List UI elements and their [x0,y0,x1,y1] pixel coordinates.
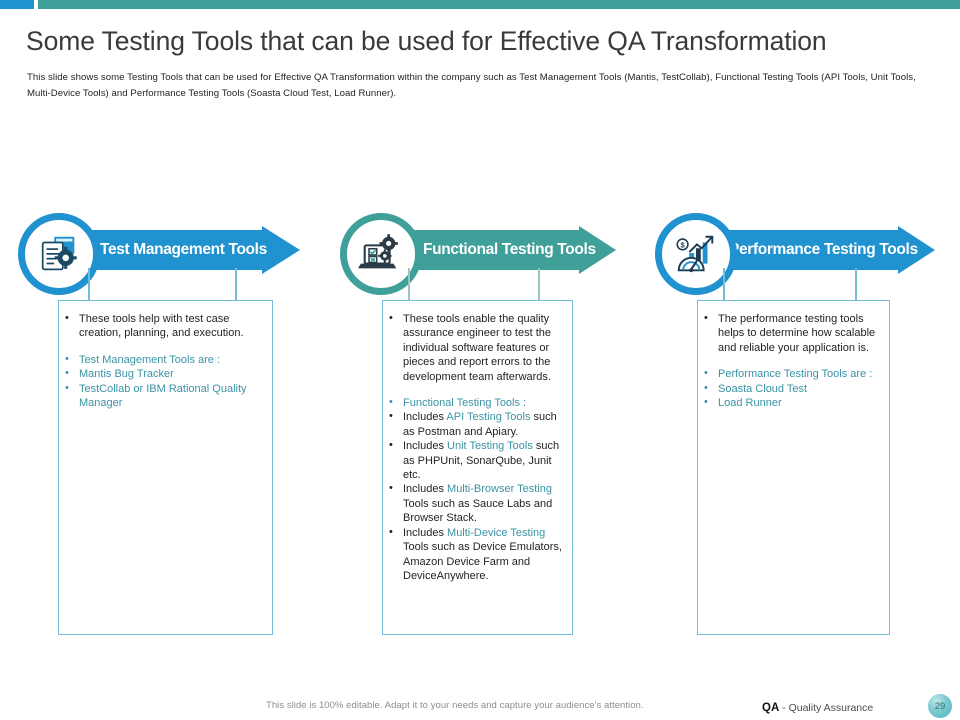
footer-legend-rest: - Quality Assurance [782,702,873,714]
document-gear-icon [36,231,82,277]
bullet-list-3: The performance testing tools helps to d… [700,312,881,410]
bullet-list-1: These tools help with test case creation… [61,312,262,410]
banner-label: Functional Testing Tools [423,226,596,274]
footer-legend: QA - Quality Assurance [762,702,873,714]
list-item: Mantis Bug Tracker [61,367,262,381]
list-item: The performance testing tools helps to d… [700,312,881,355]
slide-canvas: Some Testing Tools that can be used for … [0,0,960,720]
list-item: Load Runner [700,396,881,410]
list-item: Soasta Cloud Test [700,382,881,396]
list-item: Functional Testing Tools : [385,396,566,410]
speedometer-growth-chart-icon: $ [673,231,719,277]
banner-label: Test Management Tools [100,226,267,274]
bullet-list-2: These tools enable the quality assurance… [385,312,566,583]
list-item: Includes API Testing Tools such as Postm… [385,410,566,439]
laptop-gears-icon [358,231,404,277]
connector-stem-left-1 [88,268,90,302]
top-accent-bar-teal [38,0,960,9]
connector-stem-right-3 [855,268,857,302]
content-box-performance-testing-tools: The performance testing tools helps to d… [697,300,890,635]
list-item: These tools help with test case creation… [61,312,262,341]
connector-stem-left-2 [408,268,410,302]
list-item: Performance Testing Tools are : [700,367,881,381]
svg-text:$: $ [680,241,685,250]
banner-label: Performance Testing Tools [729,226,918,274]
footer-note: This slide is 100% editable. Adapt it to… [266,700,644,711]
page-title: Some Testing Tools that can be used for … [26,24,936,58]
connector-stem-right-1 [235,268,237,302]
page-number-badge: 29 [928,694,952,718]
top-accent-bar-blue [0,0,34,9]
list-item: Includes Multi-Device Testing Tools such… [385,526,566,584]
list-item: Includes Unit Testing Tools such as PHPU… [385,439,566,482]
list-item: Test Management Tools are : [61,353,262,367]
list-item: These tools enable the quality assurance… [385,312,566,384]
list-item: TestCollab or IBM Rational Quality Manag… [61,382,262,411]
connector-stem-right-2 [538,268,540,302]
list-item: Includes Multi-Browser Testing Tools suc… [385,482,566,525]
content-box-test-management-tools: These tools help with test case creation… [58,300,273,635]
connector-stem-left-3 [723,268,725,302]
page-subtitle: This slide shows some Testing Tools that… [27,70,920,101]
content-box-functional-testing-tools: These tools enable the quality assurance… [382,300,573,635]
footer-legend-abbr: QA [762,702,779,714]
